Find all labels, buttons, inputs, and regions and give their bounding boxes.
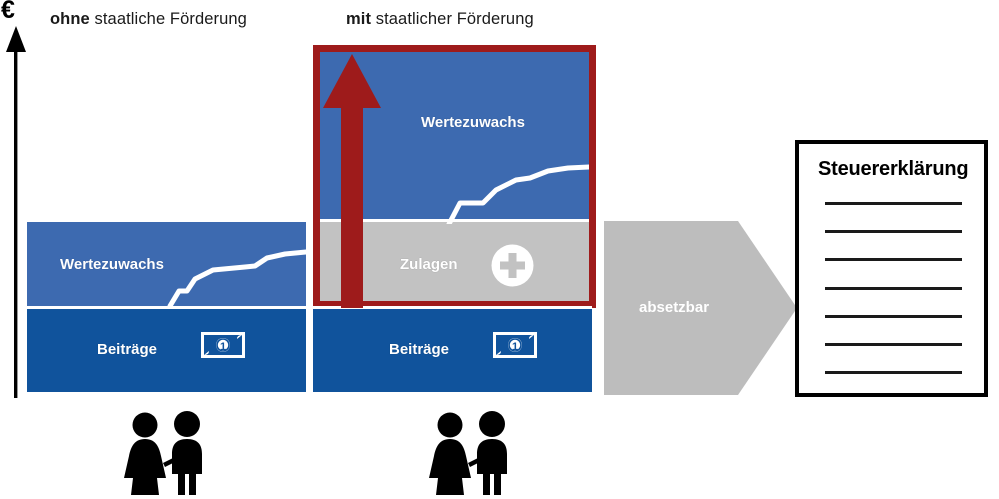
svg-text:1: 1 — [220, 341, 226, 353]
document-line — [825, 315, 962, 318]
bar-segment-contributions-col1 — [27, 309, 306, 392]
label-growth-col1: Wertezuwachs — [60, 256, 164, 273]
label-zulagen-col2: Zulagen — [400, 256, 458, 273]
document-line — [825, 258, 962, 261]
document-title: Steuererklärung — [818, 158, 968, 181]
red-up-arrow-icon — [321, 50, 383, 308]
label-growth-col2: Wertezuwachs — [421, 114, 525, 131]
bar-segment-contributions-col2 — [313, 309, 592, 392]
infographic-stage: € ohne staatliche Förderung mit staatlic… — [0, 0, 999, 499]
document-line — [825, 287, 962, 290]
svg-text:1: 1 — [512, 341, 518, 353]
label-absetzbar: absetzbar — [639, 299, 709, 316]
euro-symbol: € — [1, 0, 15, 23]
heading-left-rest: staatliche Förderung — [90, 10, 247, 28]
document-line — [825, 230, 962, 233]
heading-right-rest: staatlicher Förderung — [371, 10, 534, 28]
heading-with-subsidy: mit staatlicher Förderung — [346, 10, 534, 29]
document-line — [825, 343, 962, 346]
couple-pictogram-icon — [424, 410, 519, 495]
document-line — [825, 202, 962, 205]
label-contributions-col2: Beiträge — [389, 341, 449, 358]
banknote-icon: 1 — [491, 330, 539, 360]
heading-right-bold: mit — [346, 10, 371, 28]
banknote-icon: 1 — [199, 330, 247, 360]
couple-pictogram-icon — [119, 410, 214, 495]
up-arrow-axis-icon — [3, 26, 29, 398]
label-contributions-col1: Beiträge — [97, 341, 157, 358]
document-line — [825, 371, 962, 374]
heading-without-subsidy: ohne staatliche Förderung — [50, 10, 247, 29]
heading-left-bold: ohne — [50, 10, 90, 28]
plus-circle-icon — [490, 243, 535, 288]
